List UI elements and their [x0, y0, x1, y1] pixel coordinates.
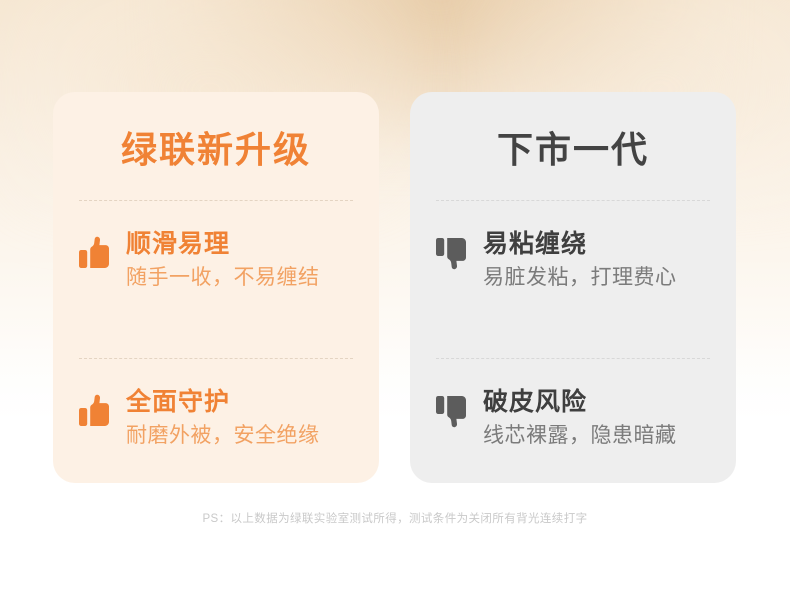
spacer	[436, 290, 710, 325]
thumbs-down-icon	[436, 394, 466, 428]
card-new-upgrade: 绿联新升级 顺滑易理 随手一收，不易缠结	[53, 92, 379, 483]
feature-subtext: 随手一收，不易缠结	[126, 266, 320, 290]
footnote-text: PS：以上数据为绿联实验室测试所得，测试条件为关闭所有背光连续打字	[0, 510, 790, 526]
card-title-previous-gen: 下市一代	[436, 132, 710, 168]
thumbs-up-icon	[79, 394, 109, 428]
spacer	[79, 290, 353, 325]
thumbs-up-icon	[79, 236, 109, 270]
feature-row: 破皮风险 线芯裸露，隐患暗藏	[436, 359, 710, 448]
card-title-new-upgrade: 绿联新升级	[79, 132, 353, 168]
feature-subtext: 易脏发粘，打理费心	[483, 266, 677, 290]
feature-heading: 全面守护	[126, 389, 320, 415]
comparison-section: 绿联新升级 顺滑易理 随手一收，不易缠结	[0, 0, 790, 612]
feature-row: 易粘缠绕 易脏发粘，打理费心	[436, 201, 710, 290]
feature-row: 全面守护 耐磨外被，安全绝缘	[79, 359, 353, 448]
feature-heading: 破皮风险	[483, 389, 677, 415]
feature-heading: 顺滑易理	[126, 231, 320, 257]
feature-subtext: 耐磨外被，安全绝缘	[126, 424, 320, 448]
feature-text: 破皮风险 线芯裸露，隐患暗藏	[483, 389, 677, 448]
card-previous-gen: 下市一代 易粘缠绕 易脏发粘，打理费心	[410, 92, 736, 483]
feature-subtext: 线芯裸露，隐患暗藏	[483, 424, 677, 448]
feature-heading: 易粘缠绕	[483, 231, 677, 257]
comparison-cards: 绿联新升级 顺滑易理 随手一收，不易缠结	[53, 92, 737, 483]
feature-text: 全面守护 耐磨外被，安全绝缘	[126, 389, 320, 448]
spacer	[436, 448, 710, 483]
feature-row: 顺滑易理 随手一收，不易缠结	[79, 201, 353, 290]
spacer	[79, 448, 353, 483]
feature-text: 顺滑易理 随手一收，不易缠结	[126, 231, 320, 290]
thumbs-down-icon	[436, 236, 466, 270]
feature-text: 易粘缠绕 易脏发粘，打理费心	[483, 231, 677, 290]
